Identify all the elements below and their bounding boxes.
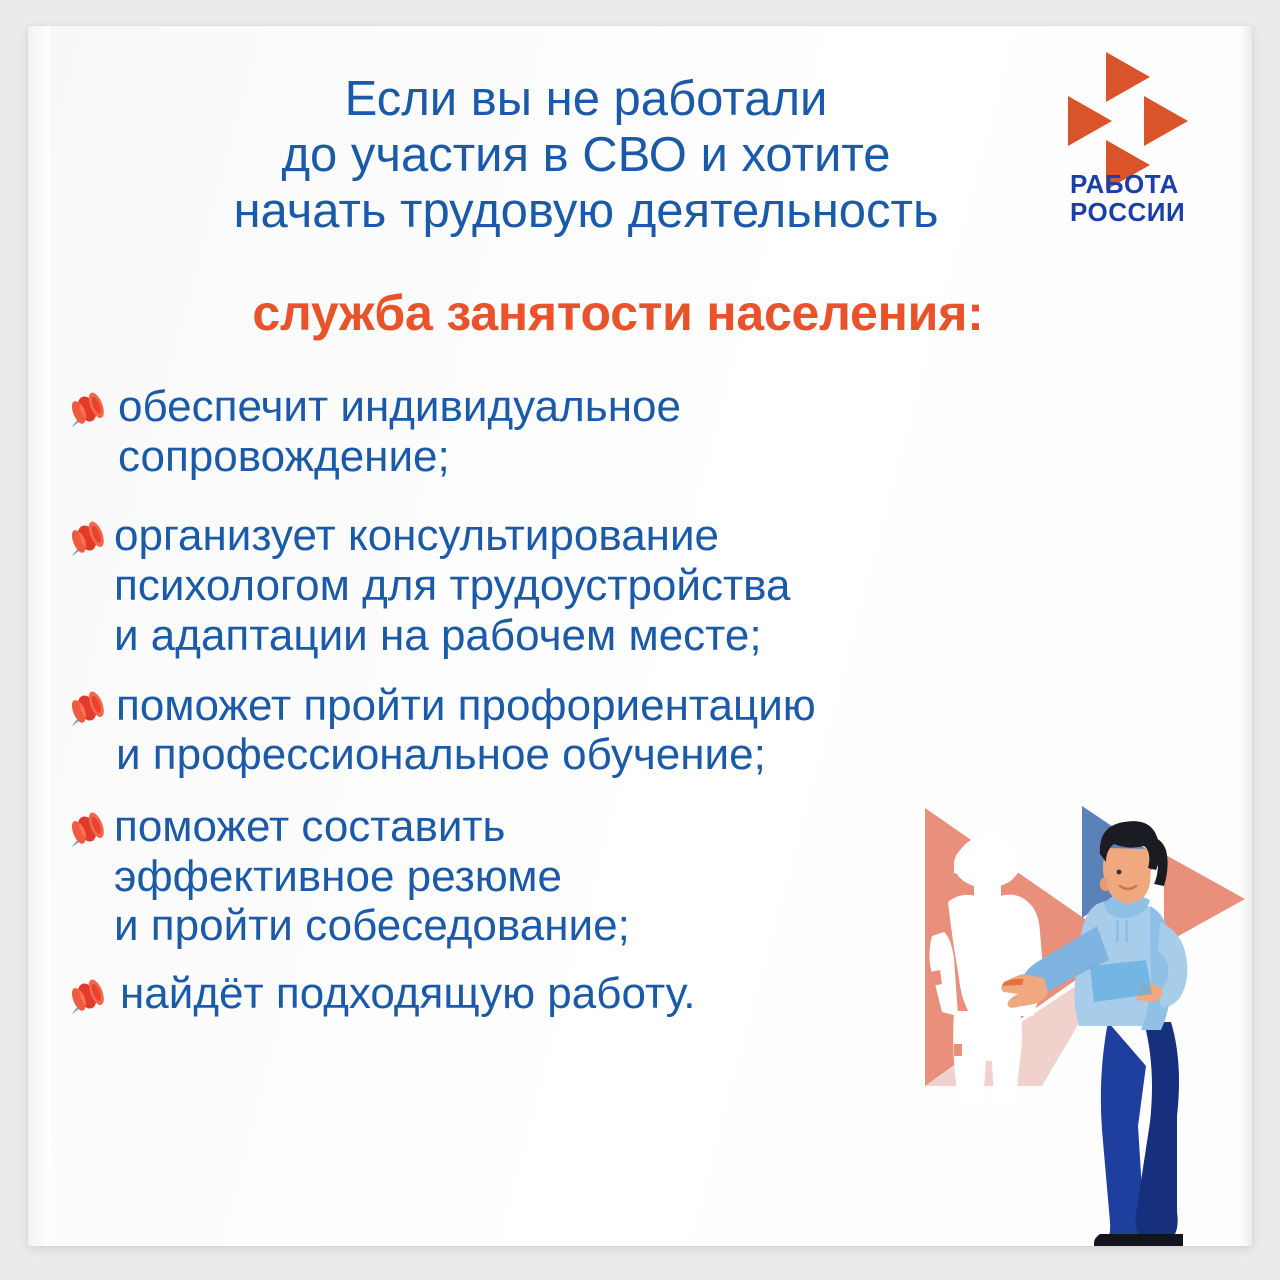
pushpin-icon (58, 517, 112, 567)
logo-wordmark: РАБОТА РОССИИ (1070, 170, 1224, 226)
list-item: поможет составить эффективное резюме и п… (58, 802, 1188, 951)
service-benefits-list: обеспечит индивидуальное сопровождение; (58, 382, 1188, 1051)
list-item: организует консультирование психологом д… (58, 511, 1188, 660)
pushpin-icon (58, 388, 112, 438)
list-item-label: организует консультирование психологом д… (114, 511, 1188, 660)
poster-card: РАБОТА РОССИИ Если вы не работали до уча… (28, 26, 1252, 1246)
pushpin-icon (58, 975, 112, 1025)
man-shoe-right (1131, 1234, 1183, 1246)
list-item-label: поможет пройти профориентацию и професси… (116, 681, 1188, 780)
logo-triangle-top-icon (1106, 52, 1150, 102)
poster-headline: Если вы не работали до участия в СВО и х… (86, 72, 1086, 240)
list-item: поможет пройти профориентацию и професси… (58, 681, 1188, 780)
list-item-label: найдёт подходящую работу. (120, 969, 1188, 1019)
logo-triangle-left-icon (1068, 96, 1112, 146)
rabota-rossii-logo: РАБОТА РОССИИ (1056, 50, 1224, 244)
list-item-label: обеспечит индивидуальное сопровождение; (118, 382, 1188, 481)
list-item-label: поможет составить эффективное резюме и п… (114, 802, 1188, 951)
logo-triangle-right-icon (1144, 96, 1188, 146)
list-item: найдёт подходящую работу. (58, 969, 1188, 1025)
poster-subheadline: служба занятости населения: (88, 284, 1148, 342)
list-item: обеспечит индивидуальное сопровождение; (58, 382, 1188, 481)
poster-root: РАБОТА РОССИИ Если вы не работали до уча… (0, 0, 1280, 1280)
logo-triangles (1056, 50, 1224, 170)
pushpin-icon (58, 808, 112, 858)
pushpin-icon (58, 687, 112, 737)
